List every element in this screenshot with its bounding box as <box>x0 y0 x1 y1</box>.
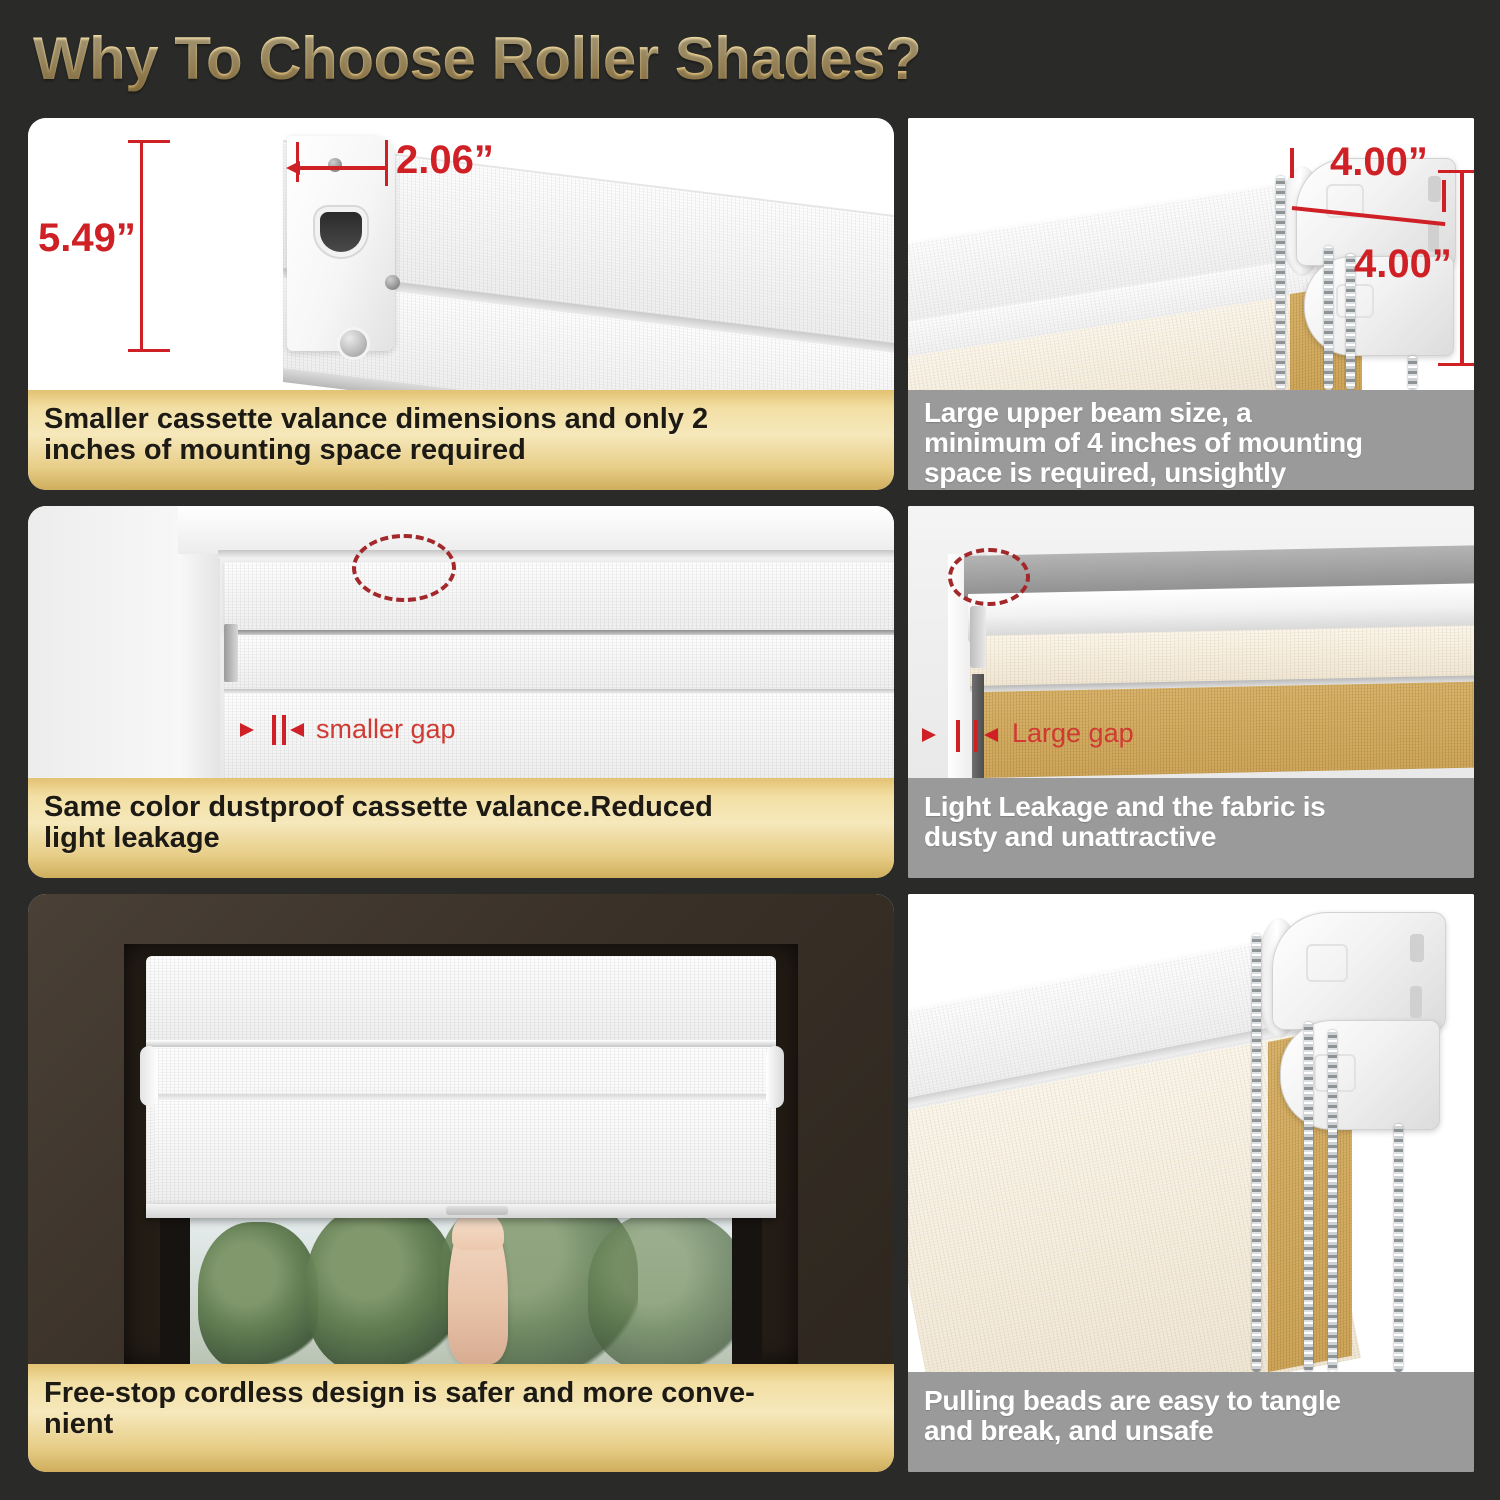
height-dimension-axis <box>140 140 143 352</box>
shade-fabric-upper <box>224 635 894 691</box>
height-dimension-label: 5.49” <box>38 216 136 261</box>
bead-chain-front <box>1252 934 1261 1372</box>
detail-highlight-ellipse <box>948 548 1030 606</box>
bead-chain-mid <box>1324 246 1333 390</box>
valance-seam <box>146 1040 776 1047</box>
gap-tick-left <box>956 720 960 752</box>
panel-3-caption-line-2: light leakage <box>44 823 713 854</box>
panel-4-caption-line-1: Light Leakage and the fabric is <box>924 792 1325 822</box>
beam-height-tick-bottom <box>1438 363 1474 366</box>
panel-1-caption: Smaller cassette valance dimensions and … <box>28 390 894 490</box>
bead-chain-front <box>1276 176 1285 390</box>
gap-tick-right <box>974 720 978 752</box>
screw-bottom <box>340 330 367 357</box>
cassette-valance-face <box>224 562 894 632</box>
panel-1-photo: 2.06” 5.49” <box>28 118 894 390</box>
panel-1-caption-line-2: inches of mounting space required <box>44 435 708 466</box>
panel-5-photo <box>28 894 894 1364</box>
side-hardware-nub <box>970 606 986 668</box>
panel-2-caption-line-3: space is required, unsightly <box>924 458 1363 488</box>
screw-mid <box>385 275 400 290</box>
beam-height-tick-top <box>1438 170 1474 173</box>
beam-height-label: 4.00” <box>1354 242 1452 287</box>
window-frame-top <box>176 506 894 554</box>
cassette-valance <box>146 956 776 1044</box>
window-frame-wall <box>28 506 178 778</box>
gap-arrow-left <box>922 728 936 742</box>
bottom-rail-grip <box>446 1206 508 1215</box>
panel-4-photo: Large gap <box>908 506 1474 778</box>
panel-light-leakage: Large gap Light Leakage and the fabric i… <box>908 506 1474 878</box>
gap-tick-right <box>282 715 286 745</box>
bead-chain-loop <box>1408 356 1417 390</box>
bracket-emboss-lower <box>1336 284 1374 318</box>
tree-mid <box>306 1204 456 1364</box>
panel-dustproof-cassette-valance: smaller gap Same color dustproof cassett… <box>28 506 894 878</box>
panel-cassette-valance-dimensions: 2.06” 5.49” Smaller cassette valance dim… <box>28 118 894 490</box>
height-tick-bottom <box>128 349 170 352</box>
panel-1-caption-line-1: Smaller cassette valance dimensions and … <box>44 404 708 435</box>
width-dimension-label: 2.06” <box>396 138 494 183</box>
bead-chain-third <box>1328 1030 1337 1372</box>
bracket-slot-mid <box>1410 986 1422 1018</box>
gap-arrow-right <box>290 723 304 737</box>
tree-far-right <box>588 1212 734 1364</box>
shade-fabric-lower <box>154 1100 768 1210</box>
detail-highlight-ellipse <box>352 534 456 602</box>
window-frame-inner-edge <box>218 550 894 558</box>
panel-free-stop-cordless: Free-stop cordless design is safer and m… <box>28 894 894 1472</box>
panel-large-upper-beam: 4.00” 4.00” Large upper beam size, a min… <box>908 118 1474 490</box>
width-dimension-line <box>296 166 388 170</box>
beam-height-axis <box>1460 170 1464 366</box>
panel-pulling-beads: Pulling beads are easy to tangle and bre… <box>908 894 1474 1472</box>
roller-end-cap-right <box>766 1046 784 1108</box>
panel-5-caption-line-1: Free-stop cordless design is safer and m… <box>44 1378 755 1409</box>
bracket-slot-top <box>1428 176 1441 202</box>
gap-arrow-right <box>984 728 998 742</box>
bracket-slot-top <box>1410 934 1424 962</box>
panel-3-caption-line-1: Same color dustproof cassette valance.Re… <box>44 792 713 823</box>
window-mullion-right <box>732 1194 762 1364</box>
beam-width-label: 4.00” <box>1330 140 1428 185</box>
panel-5-caption: Free-stop cordless design is safer and m… <box>28 1364 894 1472</box>
bracket-emboss-upper <box>1306 944 1348 982</box>
window-mullion-left <box>160 1194 190 1364</box>
bead-chain-second <box>1304 1022 1313 1372</box>
panel-4-caption-line-2: dusty and unattractive <box>924 822 1325 852</box>
width-extension-left <box>296 142 299 182</box>
roller-end-cap-left <box>140 1046 158 1106</box>
panel-3-caption: Same color dustproof cassette valance.Re… <box>28 778 894 878</box>
panel-2-caption-line-1: Large upper beam size, a <box>924 398 1363 428</box>
height-tick-top <box>128 140 170 143</box>
panel-2-caption-line-2: minimum of 4 inches of mounting <box>924 428 1363 458</box>
width-extension-right <box>385 140 388 186</box>
panel-6-caption: Pulling beads are easy to tangle and bre… <box>908 1372 1474 1472</box>
beam-width-tick-right <box>1442 180 1446 212</box>
panel-6-caption-line-2: and break, and unsafe <box>924 1416 1341 1446</box>
gap-arrow-left <box>240 723 254 737</box>
panel-6-photo <box>908 894 1474 1372</box>
roller-socket <box>320 212 362 252</box>
infographic-page: Why To Choose Roller Shades? 2.06” <box>0 0 1500 1500</box>
bead-chain-loop <box>1394 1124 1403 1372</box>
tree-left <box>198 1222 318 1364</box>
panel-2-photo: 4.00” 4.00” <box>908 118 1474 390</box>
page-title: Why To Choose Roller Shades? <box>33 24 921 93</box>
beam-width-tick-left <box>1290 148 1294 178</box>
panel-5-caption-line-2: nient <box>44 1409 755 1440</box>
gap-tick-left <box>272 715 276 745</box>
panel-4-caption: Light Leakage and the fabric is dusty an… <box>908 778 1474 878</box>
panel-2-caption: Large upper beam size, a minimum of 4 in… <box>908 390 1474 490</box>
gap-callout-label: Large gap <box>1012 718 1134 749</box>
panel-3-photo: smaller gap <box>28 506 894 778</box>
valance-side-bracket <box>224 624 238 682</box>
gap-callout-label: smaller gap <box>316 714 456 745</box>
panel-6-caption-line-1: Pulling beads are easy to tangle <box>924 1386 1341 1416</box>
